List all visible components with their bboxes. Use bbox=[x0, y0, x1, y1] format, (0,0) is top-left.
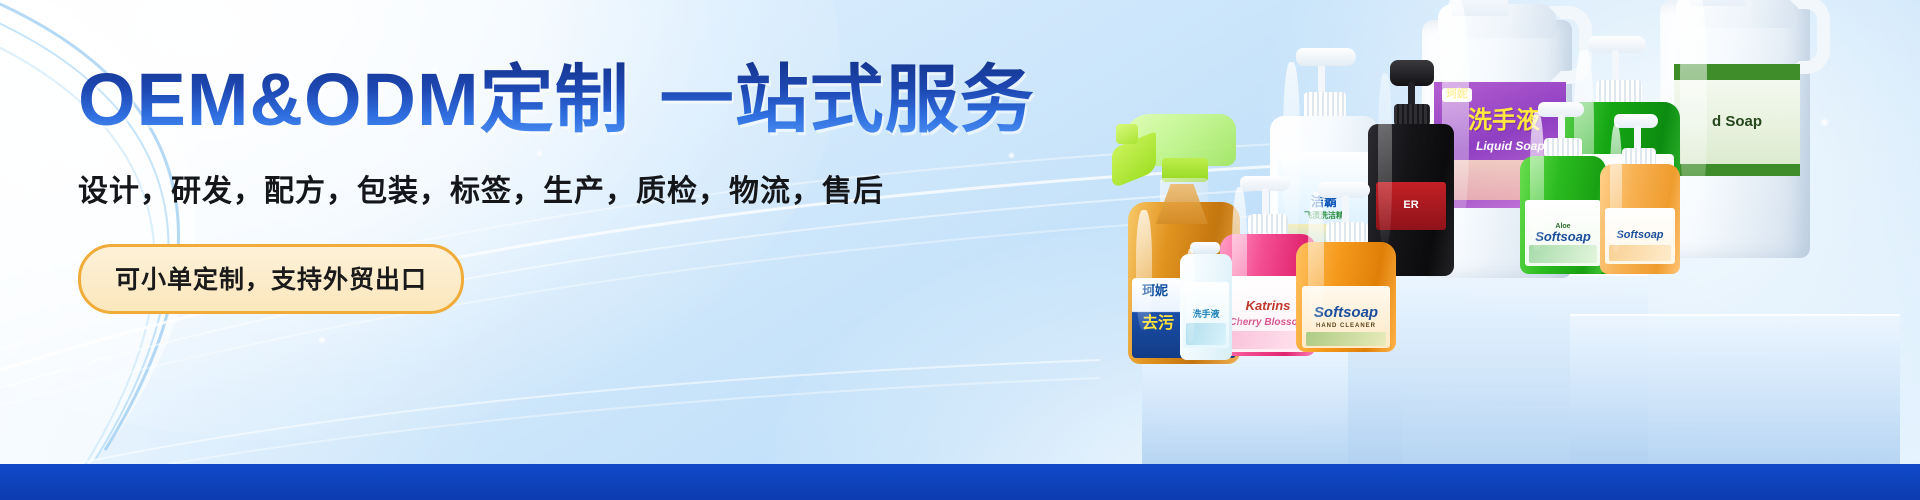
bottom-accent-bar bbox=[0, 464, 1920, 500]
pump-stem bbox=[1612, 50, 1619, 84]
product-showcase: Katrins d Soap 珂妮 洗手液 Liquid Soap bbox=[1100, 0, 1920, 464]
subheadline: 设计，研发，配方，包装，标签，生产，质检，物流，售后 bbox=[78, 166, 1035, 210]
bottle-brand: Katrins bbox=[1246, 299, 1291, 313]
podium-far bbox=[1570, 314, 1900, 464]
bottle-brand: Softsoap bbox=[1314, 305, 1378, 321]
bottle-gloss bbox=[1530, 112, 1544, 250]
cap bbox=[1190, 242, 1220, 254]
jerry-can-product-name: d Soap bbox=[1712, 114, 1762, 130]
jerry-can-brand: Katrins bbox=[1720, 66, 1754, 77]
bottle-product-name: HAND CLEANER bbox=[1316, 323, 1376, 329]
bottle-gloss bbox=[1186, 249, 1194, 343]
status-badge: 可小单定制，支持外贸出口 bbox=[78, 244, 464, 314]
jerry-can-handle bbox=[1786, 0, 1830, 74]
headline-second: 一站式服务 bbox=[660, 58, 1035, 141]
pump-stem bbox=[1342, 195, 1349, 225]
banner-text-block: OEM&ODM定制一站式服务 设计，研发，配方，包装，标签，生产，质检，物流，售… bbox=[78, 60, 1035, 314]
promo-banner: OEM&ODM定制一站式服务 设计，研发，配方，包装，标签，生产，质检，物流，售… bbox=[0, 0, 1920, 500]
pump-collar bbox=[1394, 104, 1430, 126]
sparkle-icon bbox=[318, 336, 326, 344]
bottle-label-art bbox=[1306, 332, 1386, 346]
bottle-gloss bbox=[1610, 124, 1623, 252]
bottle-gloss bbox=[1308, 192, 1324, 328]
product-softsoap-orange-small: Softsoap bbox=[1600, 114, 1680, 274]
bottle-brand: ER bbox=[1403, 200, 1418, 212]
product-jerry-can-green: Katrins d Soap bbox=[1660, 0, 1828, 258]
bottle-product-name: 洗手液 bbox=[1192, 310, 1219, 319]
pump-collar bbox=[1326, 222, 1368, 244]
bottle-gloss bbox=[1680, 0, 1707, 217]
product-softsoap-green: Aloe Softsoap bbox=[1520, 102, 1606, 274]
bottle-gloss bbox=[1136, 210, 1152, 330]
pump-head bbox=[1296, 48, 1356, 66]
spray-nozzle bbox=[1116, 124, 1138, 144]
pump-collar bbox=[1248, 214, 1288, 236]
pump-collar bbox=[1596, 80, 1642, 104]
bottle-brand: Softsoap bbox=[1616, 230, 1663, 242]
bottle-brand: Softsoap bbox=[1535, 230, 1591, 244]
bottle-label-art bbox=[1230, 331, 1306, 349]
bottle-gloss bbox=[1232, 187, 1247, 331]
pump-collar bbox=[1304, 92, 1346, 118]
product-hand-sanitizer-bottle: 洗手液 bbox=[1180, 242, 1232, 360]
product-softsoap-orange: Softsoap HAND CLEANER bbox=[1296, 182, 1396, 352]
page-title: OEM&ODM定制一站式服务 bbox=[78, 60, 1035, 140]
headline-main: OEM&ODM定制 bbox=[78, 58, 630, 141]
pump-collar bbox=[1544, 138, 1582, 158]
